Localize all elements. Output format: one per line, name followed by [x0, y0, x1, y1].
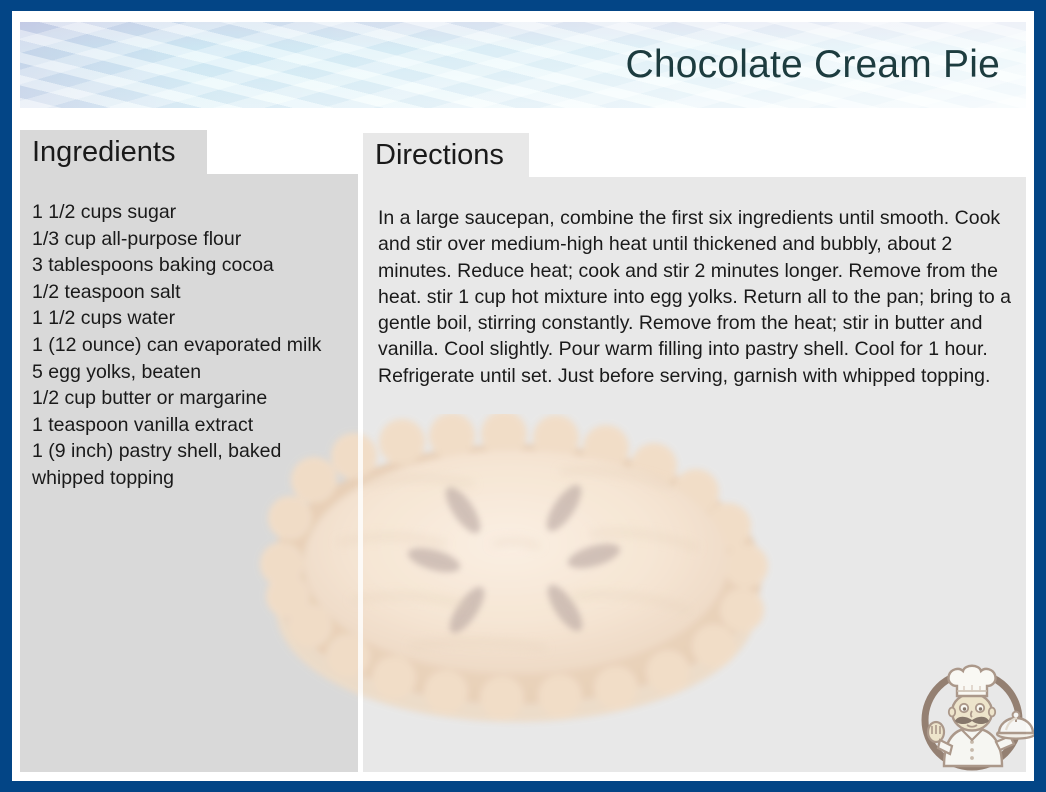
header-banner: Chocolate Cream Pie: [20, 22, 1026, 108]
recipe-card-inner: Chocolate Cream Pie: [12, 11, 1034, 781]
ingredient-item: 1/2 cup butter or margarine: [32, 385, 362, 412]
ingredient-item: whipped topping: [32, 465, 362, 492]
ingredient-item: 1 (12 ounce) can evaporated milk: [32, 332, 362, 359]
ingredient-item: 1 (9 inch) pastry shell, baked: [32, 438, 362, 465]
directions-body-text: In a large saucepan, combine the first s…: [378, 205, 1026, 389]
recipe-card: Chocolate Cream Pie: [0, 0, 1046, 792]
ingredient-item: 1/2 teaspoon salt: [32, 279, 362, 306]
recipe-title: Chocolate Cream Pie: [626, 43, 1000, 87]
ingredients-heading: Ingredients: [20, 130, 207, 174]
ingredient-item: 1 teaspoon vanilla extract: [32, 412, 362, 439]
directions-heading: Directions: [363, 133, 529, 177]
ingredient-item: 1 1/2 cups water: [32, 305, 362, 332]
ingredient-item: 3 tablespoons baking cocoa: [32, 252, 362, 279]
ingredient-item: 5 egg yolks, beaten: [32, 359, 362, 386]
ingredient-item: 1 1/2 cups sugar: [32, 199, 362, 226]
ingredients-list: 1 1/2 cups sugar 1/3 cup all-purpose flo…: [32, 199, 362, 492]
ingredient-item: 1/3 cup all-purpose flour: [32, 226, 362, 253]
chef-with-cloche-logo: [910, 654, 1034, 776]
